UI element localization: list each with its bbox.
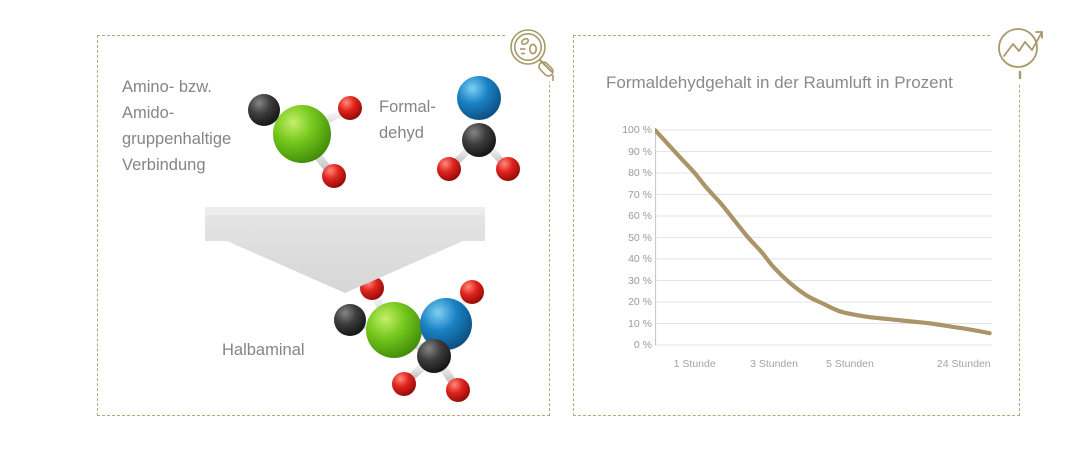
- amine-molecule-icon: [236, 82, 372, 196]
- formaldehyde-molecule-icon: [434, 70, 524, 185]
- x-axis-tick: 3 Stunden: [750, 358, 798, 370]
- y-axis-tick: 70 %: [602, 189, 652, 201]
- y-axis-tick-labels: 100 %90 %80 %70 %60 %50 %40 %30 %20 %10 …: [600, 120, 652, 335]
- y-axis-tick: 60 %: [602, 210, 652, 222]
- chart-area: 100 %90 %80 %70 %60 %50 %40 %30 %20 %10 …: [600, 120, 1000, 375]
- y-axis-tick: 10 %: [602, 318, 652, 330]
- screenshot-stage: Amino- bzw. Amido- gruppenhaltige Verbin…: [0, 0, 1080, 462]
- x-axis-tick: 5 Stunden: [826, 358, 874, 370]
- y-axis-tick: 90 %: [602, 146, 652, 158]
- data-curve: [655, 130, 990, 333]
- x-axis-tick-labels: 1 Stunde3 Stunden5 Stunden24 Stunden: [655, 358, 1000, 378]
- y-axis-tick: 0 %: [602, 339, 652, 351]
- line-plot: [655, 120, 1000, 355]
- x-axis-tick: 1 Stunde: [674, 358, 716, 370]
- x-axis-tick: 24 Stunden: [937, 358, 991, 370]
- magnifier-germ-icon: [500, 20, 566, 86]
- y-axis-tick: 20 %: [602, 296, 652, 308]
- y-axis-tick: 100 %: [602, 124, 652, 136]
- down-arrow-icon: [195, 205, 495, 295]
- y-axis-tick: 50 %: [602, 232, 652, 244]
- y-axis-tick: 40 %: [602, 253, 652, 265]
- trend-line-circle-icon: [988, 18, 1054, 84]
- chart-title: Formaldehydgehalt in der Raumluft in Pro…: [606, 73, 953, 93]
- y-axis-tick: 30 %: [602, 275, 652, 287]
- y-axis-tick: 80 %: [602, 167, 652, 179]
